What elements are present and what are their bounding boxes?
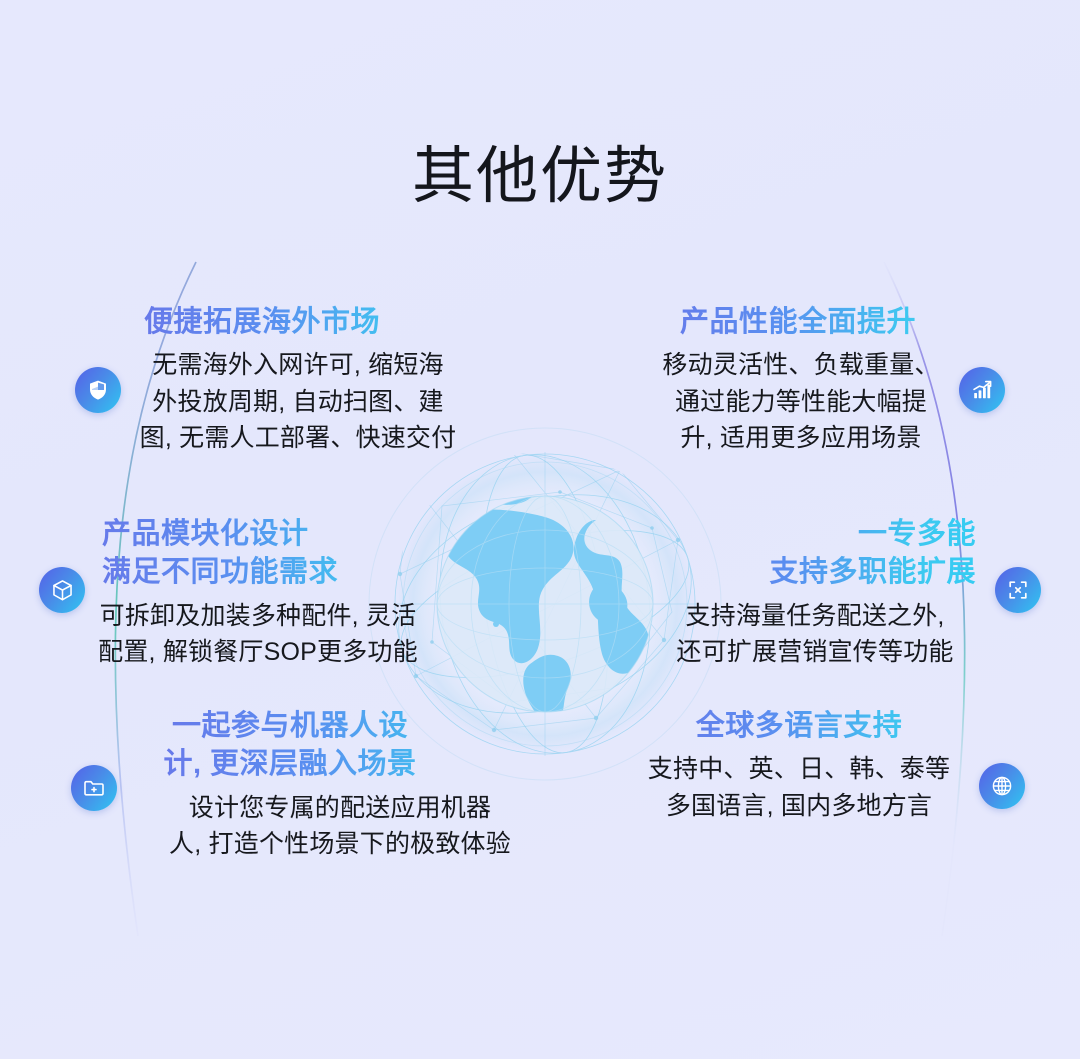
feature-block-language: 全球多语言支持 支持中、英、日、韩、泰等 多国语言, 国内多地方言 [618,707,986,824]
feature-heading-codesign: 一起参与机器人设 计, 更深层融入场景 [120,707,560,784]
feature-body-performance: 移动灵活性、负载重量、 通过能力等性能大幅提 升, 适用更多应用场景 [618,347,990,457]
globe-sphere [437,496,653,712]
folder-plus-icon [71,765,117,811]
globe-graticule [437,496,653,712]
expand-arrows-icon [995,567,1041,613]
infographic-canvas: 其他优势 便捷拓展海外市场 无需海外入网许可, 缩短海 外投放周期, 自动扫图、… [0,0,1080,1059]
feature-heading-performance: 产品性能全面提升 [618,303,990,341]
feature-block-codesign: 一起参与机器人设 计, 更深层融入场景 设计您专属的配送应用机器 人, 打造个性… [120,707,560,863]
feature-block-modular: 产品模块化设计 满足不同功能需求 可拆卸及加装多种配件, 灵活 配置, 解锁餐厅… [56,515,460,671]
feature-body-overseas: 无需海外入网许可, 缩短海 外投放周期, 自动扫图、建 图, 无需人工部署、快速… [108,347,488,457]
globe-icon [979,763,1025,809]
page-title: 其他优势 [0,146,1080,208]
feature-body-multirole: 支持海量任务配送之外, 还可扩展营销宣传等功能 [642,598,988,671]
feature-heading-modular: 产品模块化设计 满足不同功能需求 [56,515,460,592]
feature-heading-language: 全球多语言支持 [618,707,986,745]
feature-body-language: 支持中、英、日、韩、泰等 多国语言, 国内多地方言 [618,751,986,824]
feature-body-codesign: 设计您专属的配送应用机器 人, 打造个性场景下的极致体验 [120,790,560,863]
feature-block-performance: 产品性能全面提升 移动灵活性、负载重量、 通过能力等性能大幅提 升, 适用更多应… [618,303,990,457]
feature-heading-overseas: 便捷拓展海外市场 [108,303,488,341]
shield-icon [75,367,121,413]
feature-block-overseas: 便捷拓展海外市场 无需海外入网许可, 缩短海 外投放周期, 自动扫图、建 图, … [108,303,488,457]
cube-icon [39,567,85,613]
feature-block-multirole: 一专多能 支持多职能扩展 支持海量任务配送之外, 还可扩展营销宣传等功能 [642,515,988,671]
feature-body-modular: 可拆卸及加装多种配件, 灵活 配置, 解锁餐厅SOP更多功能 [56,598,460,671]
feature-heading-multirole: 一专多能 支持多职能扩展 [642,515,988,592]
growth-chart-icon [959,367,1005,413]
